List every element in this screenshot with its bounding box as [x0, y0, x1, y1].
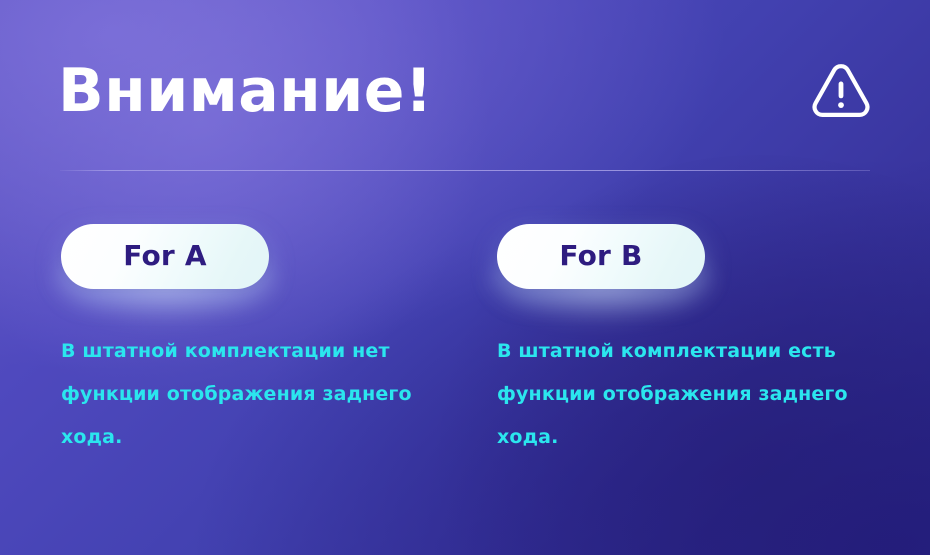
attention-notice-slide: Внимание! For A В штатной комплектации н…	[0, 0, 930, 555]
option-column-for-b: For B В штатной комплектации есть функци…	[497, 224, 897, 289]
option-a-button[interactable]: For A	[61, 224, 269, 289]
option-b-button-label: For B	[559, 242, 642, 270]
option-a-button-label: For A	[123, 242, 206, 270]
option-a-description: В штатной комплектации нет функции отобр…	[61, 330, 453, 459]
option-column-for-a: For A В штатной комплектации нет функции…	[61, 224, 461, 289]
option-b-description: В штатной комплектации есть функции отоб…	[497, 330, 889, 459]
option-a-pill-wrapper: For A	[61, 224, 269, 289]
option-b-button[interactable]: For B	[497, 224, 705, 289]
options-columns: For A В штатной комплектации нет функции…	[0, 0, 930, 555]
option-b-pill-wrapper: For B	[497, 224, 705, 289]
